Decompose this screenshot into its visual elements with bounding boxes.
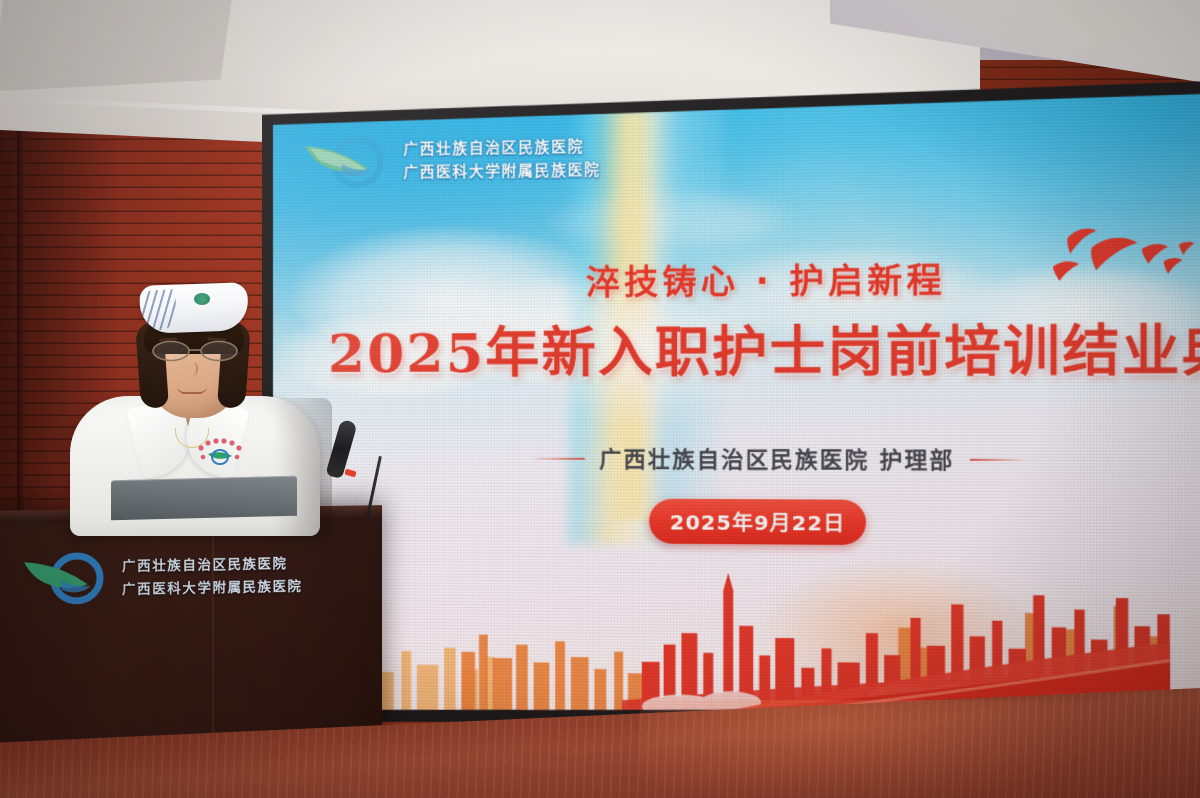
nurse-cap-stripes [141,289,176,330]
slide-logo-line1: 广西壮族自治区民族医院 [403,135,600,159]
slide-subtitle: 淬技铸心 · 护启新程 [586,253,946,305]
slide-organization-row: 广西壮族自治区民族医院 护理部 [529,443,1027,476]
nose [188,362,198,376]
uniform-logo-badge [194,436,246,470]
photo-scene: 广西壮族自治区民族医院 广西医科大学附属民族医院 淬技铸心 · 护启新程 202… [0,0,1200,798]
leaf-in-circle-icon [21,545,114,609]
mouth [177,386,207,394]
nurse-cap-emblem [194,293,210,305]
skyline-and-ribbon-graphic [273,506,1170,725]
lectern-logo-line2: 广西医科大学附属民族医院 [122,574,303,597]
body-shadow [272,398,332,538]
lectern-logo-line1: 广西壮族自治区民族医院 [122,552,303,575]
decorative-dash-left [529,457,584,459]
slide-logo-line2: 广西医科大学附属民族医院 [403,159,600,183]
slide-hospital-logo: 广西壮族自治区民族医院 广西医科大学附属民族医院 [302,126,601,192]
flying-birds-icon [1021,213,1200,298]
lectern-hospital-logo: 广西壮族自治区民族医院 广西医科大学附属民族医院 [21,542,302,609]
slide-organization: 广西壮族自治区民族医院 护理部 [599,443,954,476]
laptop [111,476,297,521]
slide-skyline-decor [273,506,1200,726]
screen-face: 广西壮族自治区民族医院 广西医科大学附属民族医院 淬技铸心 · 护启新程 202… [273,92,1200,726]
led-display-wall: 广西壮族自治区民族医院 广西医科大学附属民族医院 淬技铸心 · 护启新程 202… [262,80,1200,737]
glasses-icon [150,340,240,362]
decorative-dash-right [969,458,1027,460]
ceiling-notch [0,0,239,92]
presentation-slide: 广西壮族自治区民族医院 广西医科大学附属民族医院 淬技铸心 · 护启新程 202… [273,92,1200,726]
slide-title: 2025年新入职护士岗前培训结业典礼 [328,307,1200,388]
leaf-in-circle-icon [302,129,394,192]
